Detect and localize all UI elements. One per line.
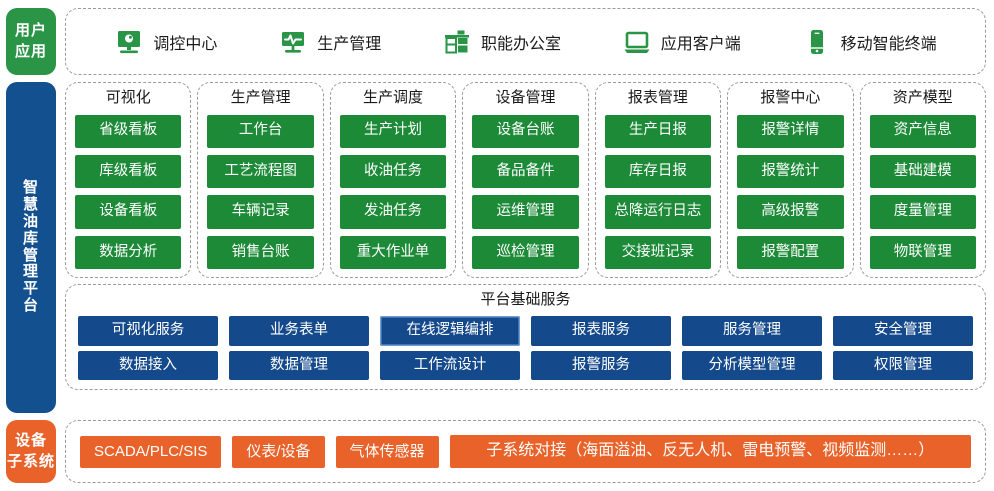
module-chip[interactable]: 设备台账 — [472, 115, 578, 148]
module-chip[interactable]: 设备看板 — [75, 195, 181, 228]
mobile-phone-icon — [802, 27, 832, 57]
module-chip[interactable]: 高级报警 — [737, 195, 843, 228]
module-chip[interactable]: 省级看板 — [75, 115, 181, 148]
side-tag-char: 台 — [23, 298, 39, 315]
app-item-functional-office[interactable]: 职能办公室 — [442, 27, 561, 57]
office-desk-icon — [442, 27, 472, 57]
module-chip[interactable]: 发油任务 — [340, 195, 446, 228]
service-chip[interactable]: 在线逻辑编排 — [380, 316, 520, 346]
app-item-dispatch-center[interactable]: 调控中心 — [114, 27, 217, 57]
column-title: 生产管理 — [207, 90, 313, 108]
column-title: 可视化 — [75, 90, 181, 108]
module-chip[interactable]: 销售台账 — [207, 236, 313, 269]
module-chip[interactable]: 资产信息 — [870, 115, 976, 148]
module-chip[interactable]: 交接班记录 — [605, 236, 711, 269]
service-chip[interactable]: 数据接入 — [78, 351, 218, 381]
service-chip[interactable]: 业务表单 — [229, 316, 369, 346]
laptop-icon — [622, 27, 652, 57]
device-chip-subsystem-integration[interactable]: 子系统对接（海面溢油、反无人机、雷电预警、视频监测……） — [450, 435, 971, 468]
services-title: 平台基础服务 — [78, 290, 973, 311]
module-columns: 可视化 省级看板 库级看板 设备看板 数据分析 生产管理 工作台 工艺流程图 车… — [65, 82, 986, 278]
module-chip[interactable]: 数据分析 — [75, 236, 181, 269]
module-column-production-management: 生产管理 工作台 工艺流程图 车辆记录 销售台账 — [197, 82, 323, 278]
service-chip[interactable]: 分析模型管理 — [682, 351, 822, 381]
side-tag-device-subsystems: 设备 子系统 — [6, 420, 56, 483]
module-chip[interactable]: 度量管理 — [870, 195, 976, 228]
module-chip[interactable]: 基础建模 — [870, 155, 976, 188]
module-chip[interactable]: 库级看板 — [75, 155, 181, 188]
column-title: 生产调度 — [340, 90, 446, 108]
module-chip[interactable]: 收油任务 — [340, 155, 446, 188]
column-title: 报表管理 — [605, 90, 711, 108]
column-title: 设备管理 — [472, 90, 578, 108]
module-chip[interactable]: 报警统计 — [737, 155, 843, 188]
service-chip[interactable]: 安全管理 — [833, 316, 973, 346]
module-chip[interactable]: 生产计划 — [340, 115, 446, 148]
platform-basic-services-panel: 平台基础服务 可视化服务 业务表单 在线逻辑编排 报表服务 服务管理 安全管理 … — [65, 284, 986, 390]
side-tag-char: 油 — [23, 214, 39, 231]
app-item-label: 职能办公室 — [481, 30, 561, 54]
module-column-equipment-management: 设备管理 设备台账 备品备件 运维管理 巡检管理 — [462, 82, 588, 278]
band-user-applications: 用户 应用 调控中心 — [6, 8, 986, 75]
side-tag-char: 慧 — [23, 197, 39, 214]
module-chip[interactable]: 库存日报 — [605, 155, 711, 188]
app-item-application-client[interactable]: 应用客户端 — [622, 27, 741, 57]
module-chip[interactable]: 工艺流程图 — [207, 155, 313, 188]
device-chip-scada[interactable]: SCADA/PLC/SIS — [80, 436, 221, 468]
side-tag-char: 平 — [23, 281, 39, 298]
module-chip[interactable]: 备品备件 — [472, 155, 578, 188]
services-row-2: 数据接入 数据管理 工作流设计 报警服务 分析模型管理 权限管理 — [78, 351, 973, 381]
platform-content: 可视化 省级看板 库级看板 设备看板 数据分析 生产管理 工作台 工艺流程图 车… — [65, 82, 986, 413]
side-tag-user-applications: 用户 应用 — [6, 8, 56, 75]
module-column-alarm-center: 报警中心 报警详情 报警统计 高级报警 报警配置 — [727, 82, 853, 278]
side-tag-char: 库 — [23, 231, 39, 248]
app-item-label: 应用客户端 — [661, 30, 741, 54]
monitor-pulse-icon — [278, 27, 308, 57]
module-chip[interactable]: 巡检管理 — [472, 236, 578, 269]
module-chip[interactable]: 生产日报 — [605, 115, 711, 148]
app-item-mobile-terminal[interactable]: 移动智能终端 — [802, 27, 937, 57]
side-tag-char: 智 — [23, 180, 39, 197]
service-chip[interactable]: 数据管理 — [229, 351, 369, 381]
band-platform: 智 慧 油 库 管 理 平 台 可视化 省级看板 库级看板 设备看板 数据分析 … — [6, 82, 986, 413]
service-chip[interactable]: 报警服务 — [531, 351, 671, 381]
column-title: 资产模型 — [870, 90, 976, 108]
side-tag-line: 子系统 — [7, 452, 55, 472]
device-chip-gas-sensor[interactable]: 气体传感器 — [336, 436, 439, 468]
module-chip[interactable]: 重大作业单 — [340, 236, 446, 269]
service-chip[interactable]: 权限管理 — [833, 351, 973, 381]
service-chip[interactable]: 报表服务 — [531, 316, 671, 346]
side-tag-char: 管 — [23, 248, 39, 265]
device-chip-instrument[interactable]: 仪表/设备 — [232, 436, 324, 468]
monitor-dot-icon — [114, 27, 144, 57]
module-chip[interactable]: 总降运行日志 — [605, 195, 711, 228]
band-device-subsystems: 设备 子系统 SCADA/PLC/SIS 仪表/设备 气体传感器 子系统对接（海… — [6, 420, 986, 483]
service-chip[interactable]: 可视化服务 — [78, 316, 218, 346]
module-column-production-dispatch: 生产调度 生产计划 收油任务 发油任务 重大作业单 — [330, 82, 456, 278]
side-tag-line: 用户 — [15, 21, 47, 41]
service-chip[interactable]: 工作流设计 — [380, 351, 520, 381]
architecture-diagram: 用户 应用 调控中心 — [0, 0, 994, 491]
side-tag-line: 设备 — [15, 431, 47, 451]
column-title: 报警中心 — [737, 90, 843, 108]
module-chip[interactable]: 报警详情 — [737, 115, 843, 148]
module-column-report-management: 报表管理 生产日报 库存日报 总降运行日志 交接班记录 — [595, 82, 721, 278]
app-item-label: 移动智能终端 — [841, 30, 937, 54]
module-chip[interactable]: 物联管理 — [870, 236, 976, 269]
services-row-1: 可视化服务 业务表单 在线逻辑编排 报表服务 服务管理 安全管理 — [78, 316, 973, 346]
module-chip[interactable]: 工作台 — [207, 115, 313, 148]
app-item-production-management[interactable]: 生产管理 — [278, 27, 381, 57]
app-item-label: 生产管理 — [317, 30, 381, 54]
device-subsystems-panel: SCADA/PLC/SIS 仪表/设备 气体传感器 子系统对接（海面溢油、反无人… — [65, 420, 986, 483]
module-column-visualization: 可视化 省级看板 库级看板 设备看板 数据分析 — [65, 82, 191, 278]
module-column-asset-model: 资产模型 资产信息 基础建模 度量管理 物联管理 — [860, 82, 986, 278]
module-chip[interactable]: 运维管理 — [472, 195, 578, 228]
user-applications-panel: 调控中心 生产管理 — [65, 8, 986, 75]
service-chip[interactable]: 服务管理 — [682, 316, 822, 346]
side-tag-char: 理 — [23, 264, 39, 281]
app-item-label: 调控中心 — [153, 30, 217, 54]
module-chip[interactable]: 报警配置 — [737, 236, 843, 269]
side-tag-line: 应用 — [15, 42, 47, 62]
side-tag-platform: 智 慧 油 库 管 理 平 台 — [6, 82, 56, 413]
module-chip[interactable]: 车辆记录 — [207, 195, 313, 228]
